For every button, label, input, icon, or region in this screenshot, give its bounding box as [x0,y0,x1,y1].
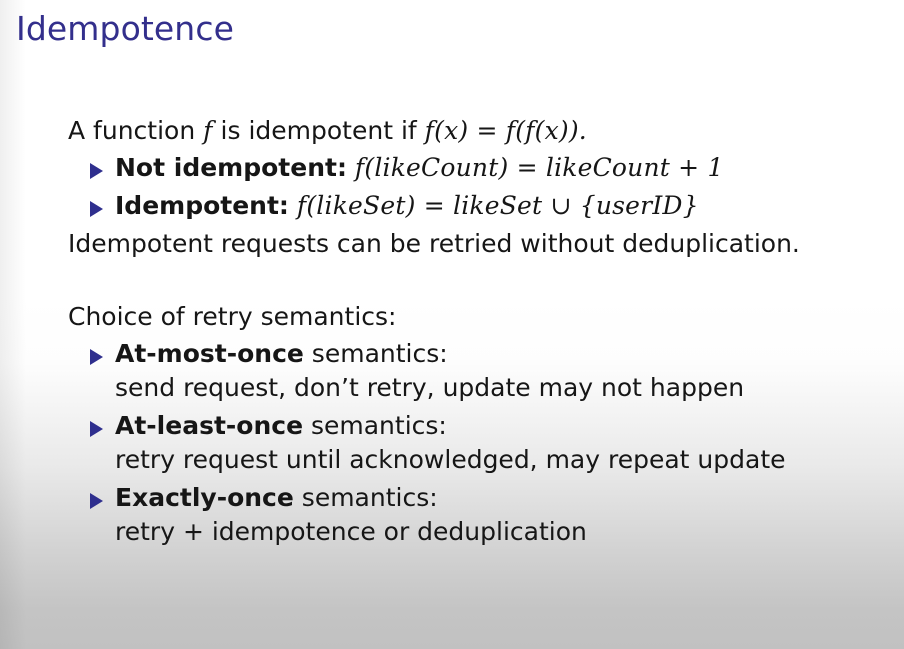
intro-math-f: f [203,116,212,145]
list-item: Idempotent: f(likeSet) = likeSet ∪ {user… [68,190,888,223]
semantics-item-at-least-once: At-least-once semantics: [115,410,888,443]
semantics-name: At-most-once [115,339,304,368]
slide-title: Idempotence [16,12,234,45]
semantics-detail: send request, don’t retry, update may no… [115,371,888,406]
slide-body: A function f is idempotent if f(x) = f(f… [68,114,888,554]
semantics-detail: retry request until acknowledged, may re… [115,443,888,478]
semantics-heading: Choice of retry semantics: [68,300,888,333]
definition-label: Not idempotent: [115,153,347,182]
definition-list: Not idempotent: f(likeCount) = likeCount… [68,152,888,222]
semantics-suffix: semantics: [303,411,447,440]
plus-symbol: + [183,517,204,546]
semantics-suffix: semantics: [294,483,438,512]
list-item: At-least-once semantics: retry request u… [68,410,888,477]
semantics-list: At-most-once semantics: send request, do… [68,338,888,549]
vertical-spacer [68,260,888,300]
intro-math-definition: f(x) = f(f(x)). [425,116,587,145]
semantics-detail-suffix: idempotence or deduplication [204,517,587,546]
semantics-item-at-most-once: At-most-once semantics: [115,338,888,371]
list-item: Not idempotent: f(likeCount) = likeCount… [68,152,888,185]
semantics-name: Exactly-once [115,483,294,512]
triangle-bullet-icon [90,349,103,365]
definition-item-idempotent: Idempotent: f(likeSet) = likeSet ∪ {user… [115,190,888,223]
semantics-detail: retry + idempotence or deduplication [115,515,888,550]
intro-sentence: A function f is idempotent if f(x) = f(f… [68,114,888,147]
definition-math: f(likeCount) = likeCount + 1 [355,153,724,182]
semantics-item-exactly-once: Exactly-once semantics: [115,482,888,515]
semantics-name: At-least-once [115,411,303,440]
triangle-bullet-icon [90,163,103,179]
triangle-bullet-icon [90,201,103,217]
definition-label: Idempotent: [115,191,289,220]
triangle-bullet-icon [90,493,103,509]
semantics-suffix: semantics: [304,339,448,368]
definition-item-not-idempotent: Not idempotent: f(likeCount) = likeCount… [115,152,888,185]
list-item: At-most-once semantics: send request, do… [68,338,888,405]
list-item: Exactly-once semantics: retry + idempote… [68,482,888,549]
triangle-bullet-icon [90,421,103,437]
semantics-detail-prefix: retry [115,517,183,546]
intro-lead-text: A function [68,116,195,145]
retry-note: Idempotent requests can be retried witho… [68,227,888,260]
presentation-slide: Idempotence A function f is idempotent i… [0,0,904,649]
definition-math: f(likeSet) = likeSet ∪ {userID} [297,191,699,220]
intro-mid-text: is idempotent if [221,116,417,145]
